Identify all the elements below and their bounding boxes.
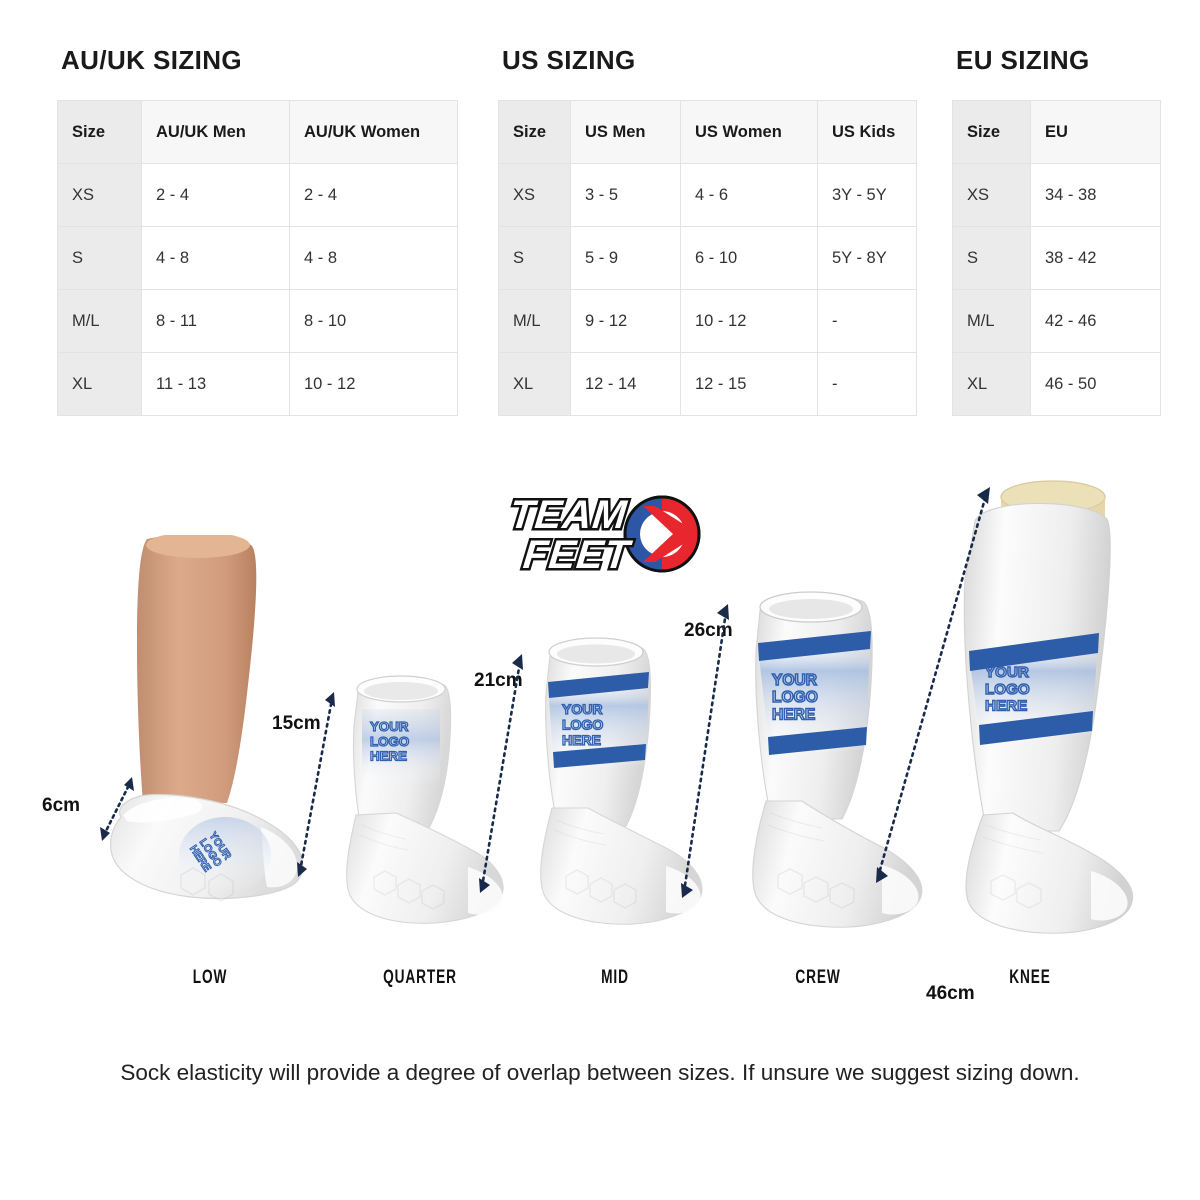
table-title-au-uk: AU/UK SIZING	[61, 45, 457, 76]
sock-logo-line-1: YOUR	[370, 719, 409, 734]
cell-value: 4 - 6	[681, 164, 818, 227]
column-header-us-kids: US Kids	[818, 101, 917, 164]
table-row: XS 34 - 38	[953, 164, 1161, 227]
sock-cuff-inner-quarter	[364, 682, 438, 700]
cell-value: 11 - 13	[142, 353, 290, 416]
size-table-us: Size US Men US Women US Kids XS 3 - 5 4 …	[498, 100, 917, 416]
table-row: M/L 8 - 11 8 - 10	[58, 290, 458, 353]
cell-value: 5 - 9	[571, 227, 681, 290]
column-header-au-uk-men: AU/UK Men	[142, 101, 290, 164]
table-title-us: US SIZING	[502, 45, 916, 76]
cell-value: 34 - 38	[1031, 164, 1161, 227]
cell-value: 10 - 12	[681, 290, 818, 353]
table-block-au-uk: AU/UK SIZING Size AU/UK Men AU/UK Women …	[57, 45, 457, 416]
sock-label-low: LOW	[160, 967, 261, 989]
cell-value: 4 - 8	[142, 227, 290, 290]
table-row: XS 3 - 5 4 - 6 3Y - 5Y	[499, 164, 917, 227]
table-row: M/L 42 - 46	[953, 290, 1161, 353]
table-header-row: Size AU/UK Men AU/UK Women	[58, 101, 458, 164]
size-table-eu: Size EU XS 34 - 38 S 38 - 42 M/L 42 - 46	[952, 100, 1161, 416]
sock-logo-line-3: HERE	[772, 706, 815, 723]
cell-size: XS	[953, 164, 1031, 227]
sock-cuff-inner-mid	[557, 645, 635, 664]
table-row: M/L 9 - 12 10 - 12 -	[499, 290, 917, 353]
table-row: S 5 - 9 6 - 10 5Y - 8Y	[499, 227, 917, 290]
sock-label-knee: KNEE	[980, 967, 1081, 989]
table-row: XL 12 - 14 12 - 15 -	[499, 353, 917, 416]
sizing-tables-row: AU/UK SIZING Size AU/UK Men AU/UK Women …	[0, 45, 1200, 416]
size-table-au-uk: Size AU/UK Men AU/UK Women XS 2 - 4 2 - …	[57, 100, 458, 416]
measurement-arrow-low	[98, 773, 138, 843]
table-header-row: Size US Men US Women US Kids	[499, 101, 917, 164]
cell-value: 2 - 4	[142, 164, 290, 227]
sock-logo-line-3: HERE	[562, 732, 601, 748]
cell-value: 6 - 10	[681, 227, 818, 290]
cell-value: 12 - 14	[571, 353, 681, 416]
sock-logo-text-crew: YOUR LOGO HERE	[772, 672, 818, 723]
sock-label-crew: CREW	[768, 967, 869, 989]
cell-size: XL	[953, 353, 1031, 416]
sock-showcase: YOUR LOGO HERE 6cm LOW	[0, 455, 1200, 1015]
table-header-row: Size EU	[953, 101, 1161, 164]
cell-size: S	[58, 227, 142, 290]
sock-logo-line-2: LOGO	[562, 717, 603, 733]
sock-logo-line-1: YOUR	[772, 672, 817, 689]
measurement-label-low: 6cm	[42, 795, 80, 817]
sock-label-quarter: QUARTER	[362, 967, 477, 989]
table-row: XL 11 - 13 10 - 12	[58, 353, 458, 416]
cell-value: 8 - 11	[142, 290, 290, 353]
footer-note: Sock elasticity will provide a degree of…	[100, 1058, 1100, 1088]
table-title-eu: EU SIZING	[956, 45, 1160, 76]
sock-label-mid: MID	[565, 967, 666, 989]
cell-size: XL	[58, 353, 142, 416]
sock-logo-line-3: HERE	[370, 749, 407, 764]
cell-value: 3Y - 5Y	[818, 164, 917, 227]
table-row: XS 2 - 4 2 - 4	[58, 164, 458, 227]
cell-size: S	[953, 227, 1031, 290]
column-header-size: Size	[58, 101, 142, 164]
cell-value: 46 - 50	[1031, 353, 1161, 416]
cell-value: -	[818, 290, 917, 353]
sock-cuff-inner-crew	[769, 599, 853, 619]
cell-value: 10 - 12	[290, 353, 458, 416]
table-block-us: US SIZING Size US Men US Women US Kids X…	[498, 45, 916, 416]
sock-logo-line-1: YOUR	[562, 701, 603, 717]
measurement-arrow-quarter	[292, 689, 340, 879]
sock-logo-line-2: LOGO	[772, 689, 818, 706]
cell-size: M/L	[58, 290, 142, 353]
measurement-arrow-mid	[474, 650, 529, 895]
cell-value: 8 - 10	[290, 290, 458, 353]
cell-value: -	[818, 353, 917, 416]
sock-logo-text-quarter: YOUR LOGO HERE	[370, 719, 409, 764]
cell-value: 42 - 46	[1031, 290, 1161, 353]
cell-value: 2 - 4	[290, 164, 458, 227]
cell-size: M/L	[953, 290, 1031, 353]
table-row: XL 46 - 50	[953, 353, 1161, 416]
table-block-eu: EU SIZING Size EU XS 34 - 38 S 38 - 42	[952, 45, 1160, 416]
mannequin-leg-form	[137, 535, 256, 803]
cell-size: XS	[499, 164, 571, 227]
measurement-label-knee: 46cm	[926, 983, 975, 1005]
column-header-size: Size	[953, 101, 1031, 164]
column-header-size: Size	[499, 101, 571, 164]
cell-value: 3 - 5	[571, 164, 681, 227]
cell-value: 5Y - 8Y	[818, 227, 917, 290]
cell-value: 9 - 12	[571, 290, 681, 353]
table-row: S 38 - 42	[953, 227, 1161, 290]
sock-logo-line-2: LOGO	[370, 734, 409, 749]
column-header-us-women: US Women	[681, 101, 818, 164]
cell-size: XL	[499, 353, 571, 416]
measurement-arrow-knee	[868, 485, 998, 885]
cell-size: M/L	[499, 290, 571, 353]
measurement-arrow-crew	[676, 600, 736, 900]
cell-value: 4 - 8	[290, 227, 458, 290]
cell-size: XS	[58, 164, 142, 227]
cell-value: 38 - 42	[1031, 227, 1161, 290]
table-row: S 4 - 8 4 - 8	[58, 227, 458, 290]
column-header-au-uk-women: AU/UK Women	[290, 101, 458, 164]
cell-value: 12 - 15	[681, 353, 818, 416]
cell-size: S	[499, 227, 571, 290]
column-header-eu: EU	[1031, 101, 1161, 164]
sock-logo-text-mid: YOUR LOGO HERE	[562, 701, 603, 748]
column-header-us-men: US Men	[571, 101, 681, 164]
